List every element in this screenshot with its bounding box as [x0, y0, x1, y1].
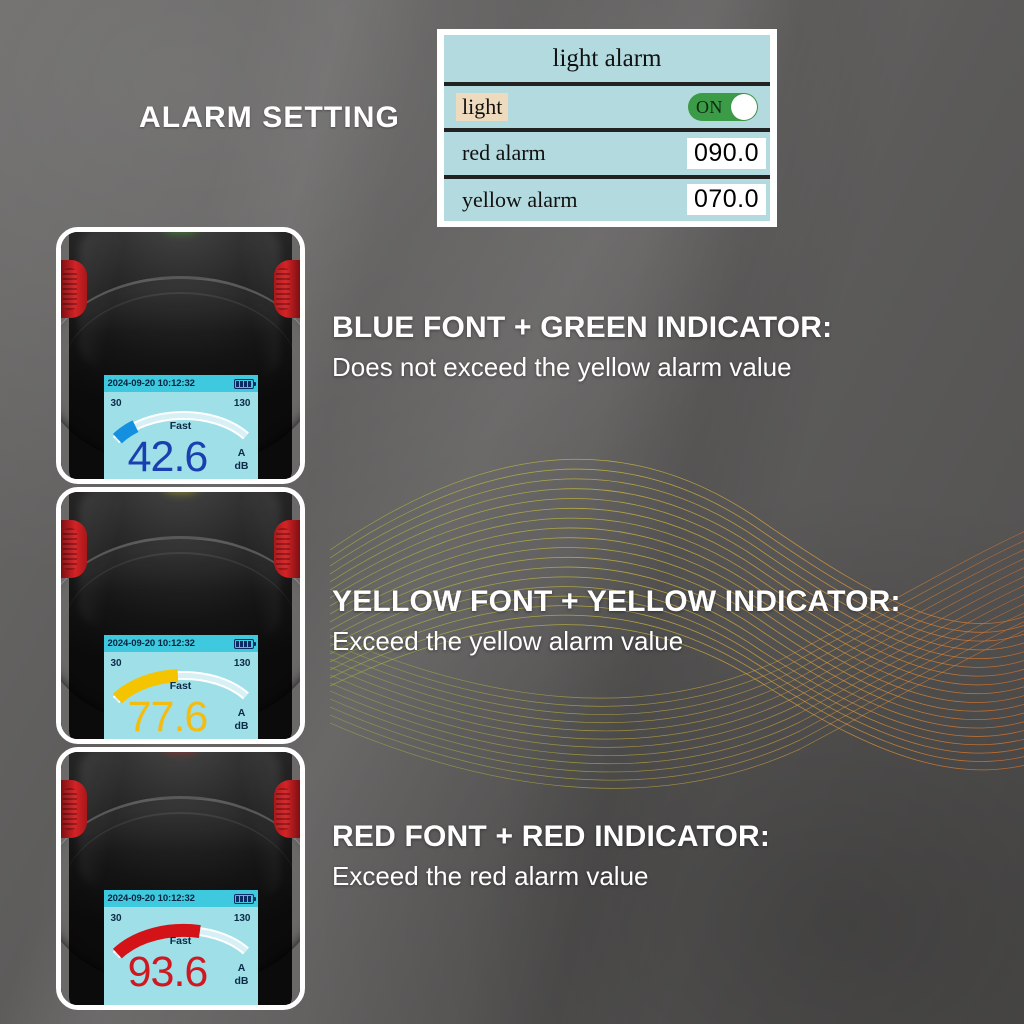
side-button-right[interactable] — [274, 780, 300, 838]
light-alarm-toggle[interactable]: ON — [688, 93, 758, 121]
poster-canvas: ALARM SETTING light alarm light ON red a… — [0, 0, 1024, 1024]
lcd-timestamp: 2024-09-20 10:12:32 — [108, 638, 195, 649]
caption-blue-subtitle: Does not exceed the yellow alarm value — [332, 352, 832, 383]
panel-row-light-label: light — [456, 93, 508, 121]
panel-row-red-alarm-label: red alarm — [456, 139, 552, 167]
lcd-screen-blue: 2024-09-20 10:12:32 30 130 Fast 42.6 A — [104, 375, 258, 479]
lcd-timestamp: 2024-09-20 10:12:32 — [108, 378, 195, 389]
device-card-blue: 2024-09-20 10:12:32 30 130 Fast 42.6 A — [56, 227, 305, 484]
db-label: dB — [235, 975, 249, 988]
panel-row-yellow-alarm[interactable]: yellow alarm 070.0 — [444, 179, 770, 221]
page-title: ALARM SETTING — [139, 101, 400, 135]
caption-red-title: RED FONT + RED INDICATOR: — [332, 820, 770, 854]
lcd-body: 30 130 Fast 93.6 A dB — [104, 907, 258, 1005]
panel-title: light alarm — [444, 35, 770, 86]
side-button-right[interactable] — [274, 520, 300, 578]
response-mode: Fast — [104, 420, 258, 432]
toggle-knob[interactable] — [731, 94, 757, 120]
unit-block: A dB — [235, 962, 249, 988]
caption-blue-title: BLUE FONT + GREEN INDICATOR: — [332, 311, 832, 345]
device-card-red: 2024-09-20 10:12:32 30 130 Fast 93.6 A — [56, 747, 305, 1010]
sound-level-meter-photo: 2024-09-20 10:12:32 30 130 Fast 93.6 A — [61, 752, 300, 1005]
caption-blue: BLUE FONT + GREEN INDICATOR: Does not ex… — [332, 311, 832, 383]
caption-yellow-title: YELLOW FONT + YELLOW INDICATOR: — [332, 585, 901, 619]
caption-red-subtitle: Exceed the red alarm value — [332, 861, 770, 892]
side-button-right[interactable] — [274, 260, 300, 318]
sound-level-meter-photo: 2024-09-20 10:12:32 30 130 Fast 77.6 A — [61, 492, 300, 739]
unit-block: A dB — [235, 447, 249, 473]
battery-icon — [234, 379, 254, 389]
lcd-status-bar: 2024-09-20 10:12:32 — [104, 890, 258, 907]
caption-red: RED FONT + RED INDICATOR: Exceed the red… — [332, 820, 770, 892]
battery-icon — [234, 639, 254, 649]
battery-icon — [234, 894, 254, 904]
side-button-left[interactable] — [61, 520, 87, 578]
db-reading-red: 93.6 — [112, 951, 224, 994]
lcd-body: 30 130 Fast 77.6 A dB — [104, 652, 258, 739]
panel-row-red-alarm[interactable]: red alarm 090.0 — [444, 132, 770, 178]
response-mode: Fast — [104, 680, 258, 692]
panel-row-yellow-alarm-label: yellow alarm — [456, 186, 583, 214]
weighting-label: A — [235, 447, 249, 460]
device-card-yellow: 2024-09-20 10:12:32 30 130 Fast 77.6 A — [56, 487, 305, 744]
red-alarm-value-field[interactable]: 090.0 — [687, 138, 766, 169]
lcd-screen-yellow: 2024-09-20 10:12:32 30 130 Fast 77.6 A — [104, 635, 258, 739]
lcd-timestamp: 2024-09-20 10:12:32 — [108, 893, 195, 904]
lcd-screen-red: 2024-09-20 10:12:32 30 130 Fast 93.6 A — [104, 890, 258, 1005]
db-reading-yellow: 77.6 — [112, 696, 224, 739]
db-label: dB — [235, 460, 249, 473]
side-button-left[interactable] — [61, 260, 87, 318]
unit-block: A dB — [235, 707, 249, 733]
lcd-body: 30 130 Fast 42.6 A dB — [104, 392, 258, 479]
db-reading-blue: 42.6 — [112, 436, 224, 479]
alarm-setting-panel: light alarm light ON red alarm 090.0 yel… — [437, 29, 777, 227]
yellow-alarm-value-field[interactable]: 070.0 — [687, 184, 766, 215]
panel-row-light[interactable]: light ON — [444, 86, 770, 132]
response-mode: Fast — [104, 935, 258, 947]
side-button-left[interactable] — [61, 780, 87, 838]
toggle-state-label: ON — [696, 97, 723, 118]
lcd-status-bar: 2024-09-20 10:12:32 — [104, 375, 258, 392]
weighting-label: A — [235, 962, 249, 975]
db-label: dB — [235, 720, 249, 733]
caption-yellow: YELLOW FONT + YELLOW INDICATOR: Exceed t… — [332, 585, 901, 657]
sound-level-meter-photo: 2024-09-20 10:12:32 30 130 Fast 42.6 A — [61, 232, 300, 479]
caption-yellow-subtitle: Exceed the yellow alarm value — [332, 626, 901, 657]
lcd-status-bar: 2024-09-20 10:12:32 — [104, 635, 258, 652]
weighting-label: A — [235, 707, 249, 720]
